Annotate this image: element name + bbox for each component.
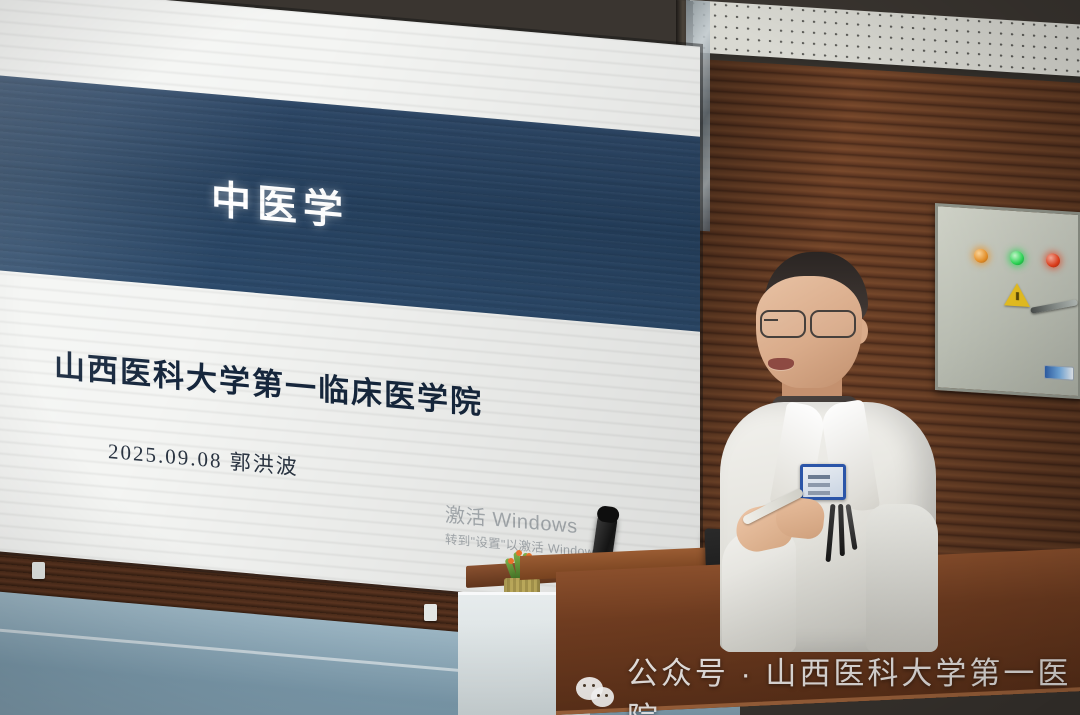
pen	[845, 504, 857, 550]
electrical-control-panel[interactable]	[935, 203, 1080, 399]
panel-handle[interactable]	[1030, 299, 1078, 314]
panel-blue-label	[1044, 365, 1074, 381]
presenter-arm-right	[866, 504, 938, 652]
wechat-bubble-small	[591, 687, 614, 707]
slide-date-author: 2025.09.08 郭洪波	[108, 435, 299, 482]
id-badge	[800, 464, 846, 500]
pen	[838, 504, 845, 556]
pocket-pens	[826, 504, 860, 566]
warning-triangle-icon	[1004, 282, 1030, 307]
watermark-text: 公众号 · 山西医科大学第一医院	[627, 648, 1080, 715]
slide-subtitle: 山西医科大学第一临床医学院	[54, 340, 483, 423]
presenter-mouth	[768, 358, 794, 370]
indicator-lamp-green	[1010, 251, 1024, 266]
pen	[825, 504, 835, 562]
presenter	[716, 252, 940, 652]
indicator-lamp-orange	[974, 248, 988, 263]
glasses-bridge	[764, 319, 778, 321]
wechat-icon	[576, 677, 614, 709]
projection-screen: 科大学 L UNIVERSITY 中医学 山西医科大学第一临床医学院 2025.…	[0, 0, 700, 613]
plant-flower-tip	[508, 558, 514, 564]
wechat-watermark: 公众号 · 山西医科大学第一医院	[576, 648, 1080, 715]
wall-outlet	[32, 562, 45, 579]
glasses-icon	[754, 310, 866, 336]
wall-outlet	[424, 604, 437, 621]
screenshot-stage: 科大学 L UNIVERSITY 中医学 山西医科大学第一临床医学院 2025.…	[0, 0, 1080, 715]
indicator-lamp-red	[1046, 253, 1060, 268]
